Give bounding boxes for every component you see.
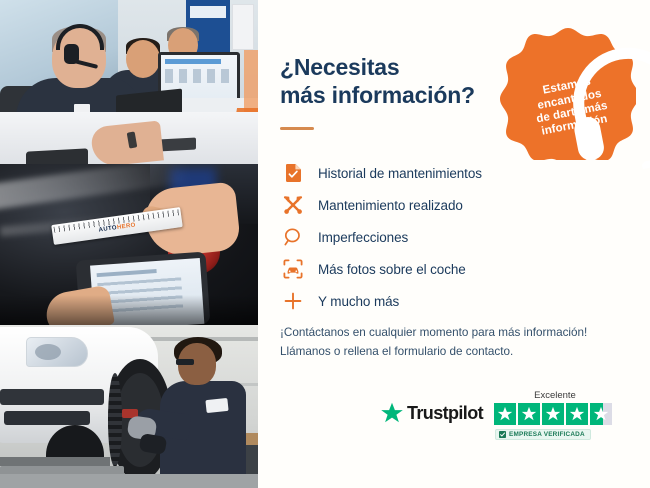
car-headlight [26, 337, 88, 367]
mechanic-logo-badge [205, 398, 228, 413]
wall-poster [232, 4, 254, 50]
car-lift-arm [0, 457, 110, 466]
rating-star-1 [494, 403, 516, 425]
contact-paragraph-line-2: Llámanos o rellena el formulario de cont… [280, 342, 640, 361]
content-panel: ¿Necesitas más información? Estamos enca… [258, 0, 650, 488]
vehicle-inspection-ruler-photo: AUTOHERO [0, 164, 258, 325]
desk-tablet [26, 148, 88, 164]
trustpilot-rating-block: Excelente EMPRESA VERIFICADA [494, 390, 640, 443]
ruler-brand-part-b: HERO [117, 222, 137, 231]
rating-star-4 [566, 403, 588, 425]
check-square-icon [499, 431, 506, 438]
mechanic-wheel-check-photo [0, 325, 258, 488]
page-title-line-1: ¿Necesitas [280, 54, 399, 80]
title-divider [280, 127, 314, 130]
wrench-screwdriver-icon [280, 192, 306, 218]
car-viewfinder-icon [280, 256, 306, 282]
rating-star-5-half [590, 403, 612, 425]
feature-label: Más fotos sobre el coche [318, 262, 466, 277]
magnifier-icon [280, 224, 306, 250]
promo-badge-content: Estamos encantados de darte más informac… [488, 12, 647, 171]
trustpilot-widget[interactable]: Trustpilot Excelente EMPRESA VERIFICADA [380, 390, 638, 446]
car-grille-lower [4, 411, 90, 425]
feature-label: Y mucho más [318, 294, 399, 309]
verified-company-label: EMPRESA VERIFICADA [509, 431, 585, 438]
contact-paragraph: ¡Contáctanos en cualquier momento para m… [280, 323, 640, 362]
feature-label: Mantenimiento realizado [318, 198, 463, 213]
feature-item-more-photos[interactable]: Más fotos sobre el coche [280, 253, 610, 285]
trustpilot-brand-label: Trustpilot [407, 403, 483, 424]
rating-star-2 [518, 403, 540, 425]
agent-arm [90, 120, 164, 164]
call-center-agents-photo [0, 0, 258, 164]
feature-label: Historial de mantenimientos [318, 166, 482, 181]
contact-paragraph-line-1: ¡Contáctanos en cualquier momento para m… [280, 323, 640, 342]
promo-badge: Estamos encantados de darte más informac… [500, 24, 636, 160]
page-title-line-2: más información? [280, 81, 530, 109]
tyre-tread [108, 373, 122, 467]
workshop-floor [0, 474, 258, 488]
verified-company-badge: EMPRESA VERIFICADA [495, 429, 591, 440]
feature-item-imperfections[interactable]: Imperfecciones [280, 221, 610, 253]
plus-icon [280, 288, 306, 314]
document-check-icon [280, 160, 306, 186]
feature-list: Historial de mantenimientos Mantenimient… [280, 157, 610, 317]
feature-item-maintenance-history[interactable]: Historial de mantenimientos [280, 157, 610, 189]
trustpilot-star-rating [494, 403, 640, 425]
photo-column: AUTOHERO [0, 0, 258, 488]
feature-label: Imperfecciones [318, 230, 408, 245]
trustpilot-star-icon [380, 402, 404, 425]
agent-middle-head [126, 40, 160, 78]
photo-bottom-shadow [0, 295, 258, 325]
trustpilot-rating-label: Excelente [495, 390, 615, 401]
ruler-brand-part-a: AUTO [98, 225, 117, 234]
trustpilot-logo: Trustpilot [380, 402, 483, 425]
rating-star-3 [542, 403, 564, 425]
car-grille-upper [0, 389, 104, 405]
feature-item-maintenance-done[interactable]: Mantenimiento realizado [280, 189, 610, 221]
feature-item-much-more[interactable]: Y mucho más [280, 285, 610, 317]
safety-glasses [176, 359, 194, 365]
